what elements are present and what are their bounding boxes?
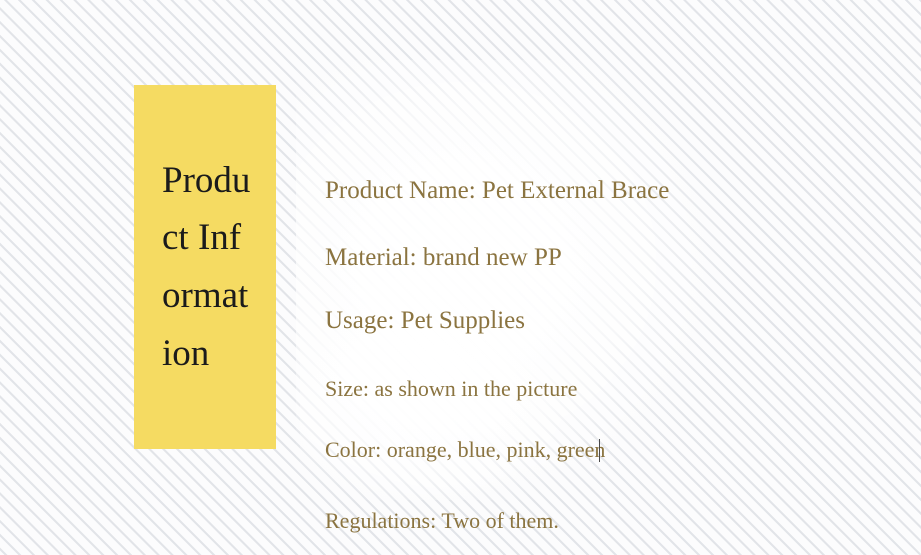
product-information-title-card[interactable]: Product Information bbox=[134, 85, 276, 449]
text-cursor-caret bbox=[599, 439, 600, 462]
detail-line-text: Color: orange, blue, pink, green bbox=[325, 437, 605, 462]
detail-line-size: Size: as shown in the picture bbox=[325, 376, 577, 402]
detail-line-text: Regulations: Two of them. bbox=[325, 508, 559, 533]
detail-line-text: Size: as shown in the picture bbox=[325, 376, 577, 401]
title-card-label: Product Information bbox=[162, 152, 254, 383]
detail-line-material: Material: brand new PP bbox=[325, 244, 562, 272]
detail-line-text: Usage: Pet Supplies bbox=[325, 307, 525, 334]
detail-line-usage: Usage: Pet Supplies bbox=[325, 307, 525, 335]
detail-line-text: Product Name: Pet External Brace bbox=[325, 177, 669, 204]
detail-line-product-name: Product Name: Pet External Brace bbox=[325, 177, 669, 205]
detail-line-color: Color: orange, blue, pink, green bbox=[325, 437, 600, 463]
text-backdrop-wash bbox=[296, 60, 736, 500]
detail-line-regulations: Regulations: Two of them. bbox=[325, 508, 559, 534]
slide-canvas: Product Information Product Name: Pet Ex… bbox=[0, 0, 921, 555]
detail-line-text: Material: brand new PP bbox=[325, 244, 562, 271]
